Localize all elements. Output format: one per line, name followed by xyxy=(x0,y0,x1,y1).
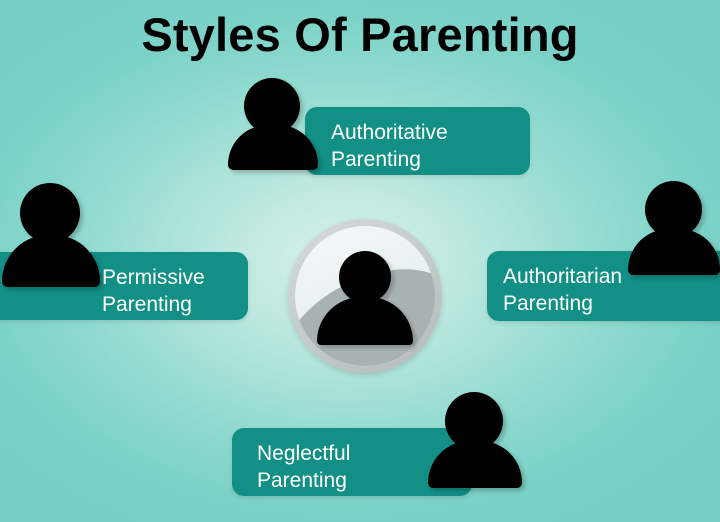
person-icon-authoritarian xyxy=(628,181,720,275)
parenting-styles-infographic: Styles Of Parenting Authoritative Parent… xyxy=(0,0,720,522)
label-box-authoritative[interactable]: Authoritative Parenting xyxy=(305,107,530,175)
label-line-1: Authoritative xyxy=(331,119,530,146)
label-line-1: Permissive xyxy=(102,264,248,291)
person-body-shape xyxy=(428,441,522,488)
person-body-shape xyxy=(228,125,318,170)
person-icon-neglectful xyxy=(428,392,522,488)
person-icon-permissive xyxy=(2,183,100,287)
person-icon-authoritative xyxy=(228,78,318,170)
person-head-shape xyxy=(20,183,80,243)
person-body-shape xyxy=(628,229,720,275)
person-body-shape xyxy=(2,235,100,287)
label-line-2: Parenting xyxy=(503,290,720,317)
label-line-2: Parenting xyxy=(331,146,530,173)
page-title: Styles Of Parenting xyxy=(0,8,720,62)
center-person-head-shape xyxy=(339,251,391,303)
center-person-badge xyxy=(288,219,442,373)
label-line-2: Parenting xyxy=(102,291,248,318)
